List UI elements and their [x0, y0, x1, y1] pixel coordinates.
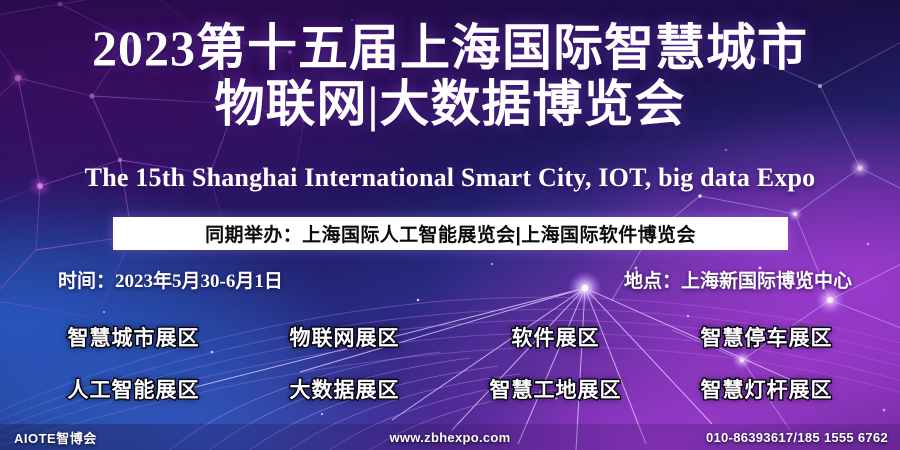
event-time: 时间：2023年5月30-6月1日	[58, 266, 283, 293]
event-meta-row: 时间：2023年5月30-6月1日 地点：上海新国际博览中心	[0, 266, 900, 292]
zone-smart-parking: 智慧停车展区	[661, 322, 872, 352]
footer-bar: AIOTE智博会 www.zbhexpo.com 010-86393617/18…	[0, 424, 900, 450]
exhibition-zones: 智慧城市展区 物联网展区 软件展区 智慧停车展区 人工智能展区 大数据展区 智慧…	[28, 322, 872, 404]
footer-phone: 010-86393617/185 1555 6762	[706, 430, 888, 445]
expo-poster: 2023第十五届上海国际智慧城市 物联网|大数据博览会 The 15th Sha…	[0, 0, 900, 450]
title-line-1: 2023第十五届上海国际智慧城市	[0, 20, 900, 76]
zone-iot: 物联网展区	[239, 322, 450, 352]
zone-smart-city: 智慧城市展区	[28, 322, 239, 352]
english-subtitle: The 15th Shanghai International Smart Ci…	[0, 163, 900, 193]
poster-title-block: 2023第十五届上海国际智慧城市 物联网|大数据博览会	[0, 20, 900, 132]
event-place: 地点：上海新国际博览中心	[624, 266, 852, 293]
zone-software: 软件展区	[450, 322, 661, 352]
zone-big-data: 大数据展区	[239, 374, 450, 404]
concurrent-events-banner: 同期举办：上海国际人工智能展览会|上海国际软件博览会	[113, 217, 788, 250]
title-line-2: 物联网|大数据博览会	[0, 76, 900, 132]
zone-smart-construction-site: 智慧工地展区	[450, 374, 661, 404]
zone-ai: 人工智能展区	[28, 374, 239, 404]
concurrent-events-text: 同期举办：上海国际人工智能展览会|上海国际软件博览会	[205, 220, 696, 247]
zone-smart-light-pole: 智慧灯杆展区	[661, 374, 872, 404]
zone-row-1: 智慧城市展区 物联网展区 软件展区 智慧停车展区	[28, 322, 872, 352]
zone-row-2: 人工智能展区 大数据展区 智慧工地展区 智慧灯杆展区	[28, 374, 872, 404]
